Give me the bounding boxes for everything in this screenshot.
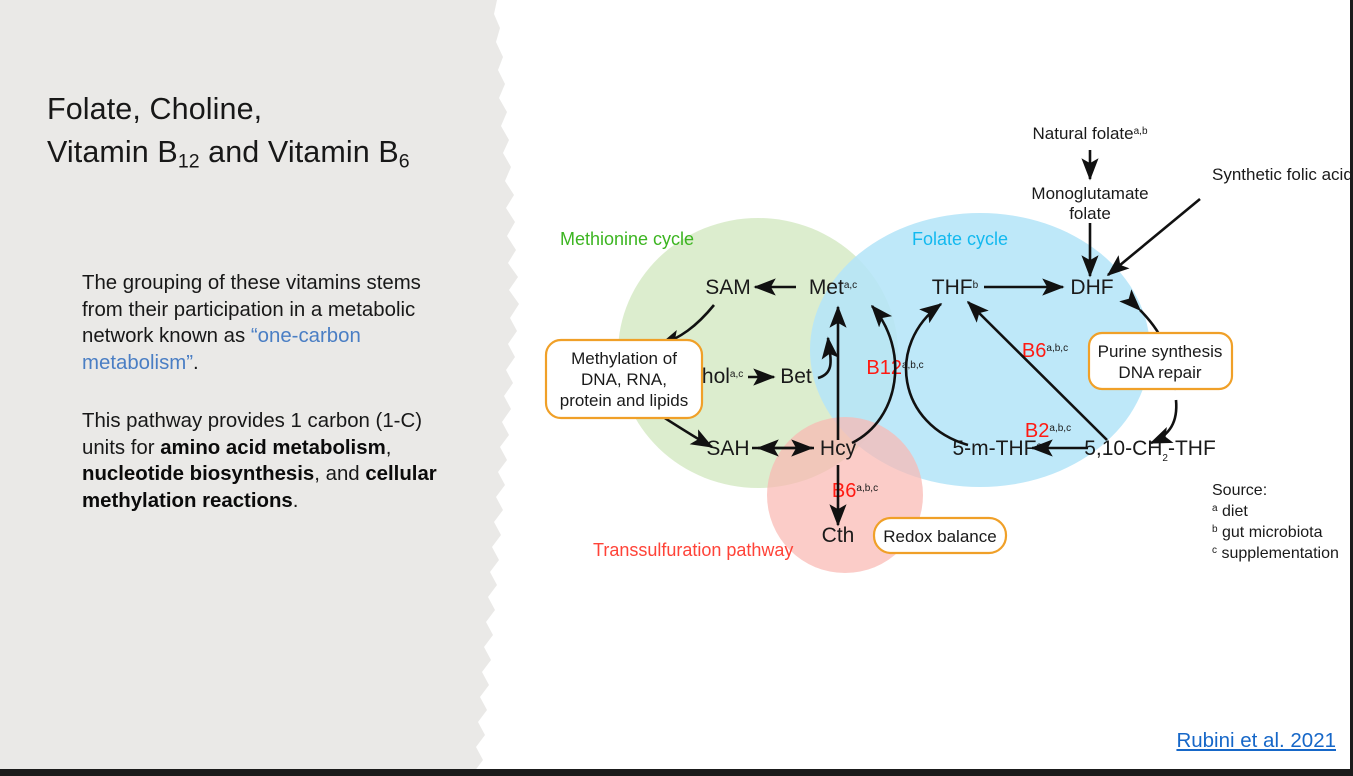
callout-purine-line1: Purine synthesis (1098, 342, 1223, 361)
title-line-1: Folate, Choline, (47, 92, 262, 126)
one-carbon-metabolism-diagram: Natural folatea,b Monoglutamate folate S… (500, 95, 1353, 615)
source-heading: Source: (1212, 482, 1267, 499)
para2-text-b: . (293, 490, 299, 512)
left-text-column: Folate, Choline, Vitamin B12 and Vitamin… (0, 0, 500, 776)
label-synthetic-folic-acid: Synthetic folic acidc (1212, 165, 1353, 184)
callout-redox-line1: Redox balance (883, 527, 996, 546)
title-sub-12: 12 (178, 151, 200, 173)
label-thf: THFb (932, 276, 979, 299)
label-dhf: DHF (1070, 276, 1113, 299)
callout-purine-line2: DNA repair (1118, 363, 1201, 382)
callout-methylation-line2: DNA, RNA, (581, 370, 667, 389)
label-folate-cycle: Folate cycle (912, 229, 1008, 249)
source-item-b: b gut microbiota (1212, 524, 1323, 541)
arrow-synthetic-to-dhf (1108, 199, 1200, 275)
source-legend: Source: a diet b gut microbiota c supple… (1212, 482, 1339, 562)
term-amino-acid-metabolism: amino acid metabolism (160, 437, 386, 459)
label-natural-folate: Natural folatea,b (1032, 124, 1147, 143)
source-item-a: a diet (1212, 503, 1248, 520)
label-sam: SAM (705, 276, 751, 299)
para2-sep-2: , and (314, 463, 365, 485)
label-cth: Cth (822, 524, 855, 547)
callout-methylation-line3: protein and lipids (560, 391, 689, 410)
callout-redox-balance[interactable]: Redox balance (874, 518, 1006, 553)
para1-text-b: . (193, 352, 199, 374)
page-title: Folate, Choline, Vitamin B12 and Vitamin… (47, 88, 497, 176)
citation-link[interactable]: Rubini et al. 2021 (1176, 729, 1336, 753)
label-510-ch2-thf: 5,10-CH2-THF (1084, 437, 1216, 464)
callout-purine-synthesis[interactable]: Purine synthesis DNA repair (1089, 333, 1232, 389)
label-methionine-cycle: Methionine cycle (560, 229, 694, 249)
label-hcy: Hcy (820, 437, 857, 460)
title-line-2: Vitamin B12 and Vitamin B6 (47, 135, 410, 169)
label-bet: Bet (780, 365, 812, 388)
label-sah: SAH (706, 437, 749, 460)
label-transsulfuration-pathway: Transsulfuration pathway (593, 540, 793, 560)
para2-sep-1: , (386, 437, 397, 459)
source-item-c: c supplementation (1212, 545, 1339, 562)
label-monoglutamate-folate-line2: folate (1069, 204, 1111, 223)
title-sub-6: 6 (399, 151, 410, 173)
body-paragraph-2: This pathway provides 1 carbon (1-C) uni… (82, 408, 454, 514)
body-paragraph-1: The grouping of these vitamins stems fro… (82, 270, 454, 376)
label-monoglutamate-folate-line1: Monoglutamate (1031, 184, 1148, 203)
callout-methylation[interactable]: Methylation of DNA, RNA, protein and lip… (546, 340, 702, 418)
term-nucleotide-biosynthesis: nucleotide biosynthesis (82, 463, 314, 485)
callout-methylation-line1: Methylation of (571, 349, 677, 368)
slide-canvas: Folate, Choline, Vitamin B12 and Vitamin… (0, 0, 1353, 776)
